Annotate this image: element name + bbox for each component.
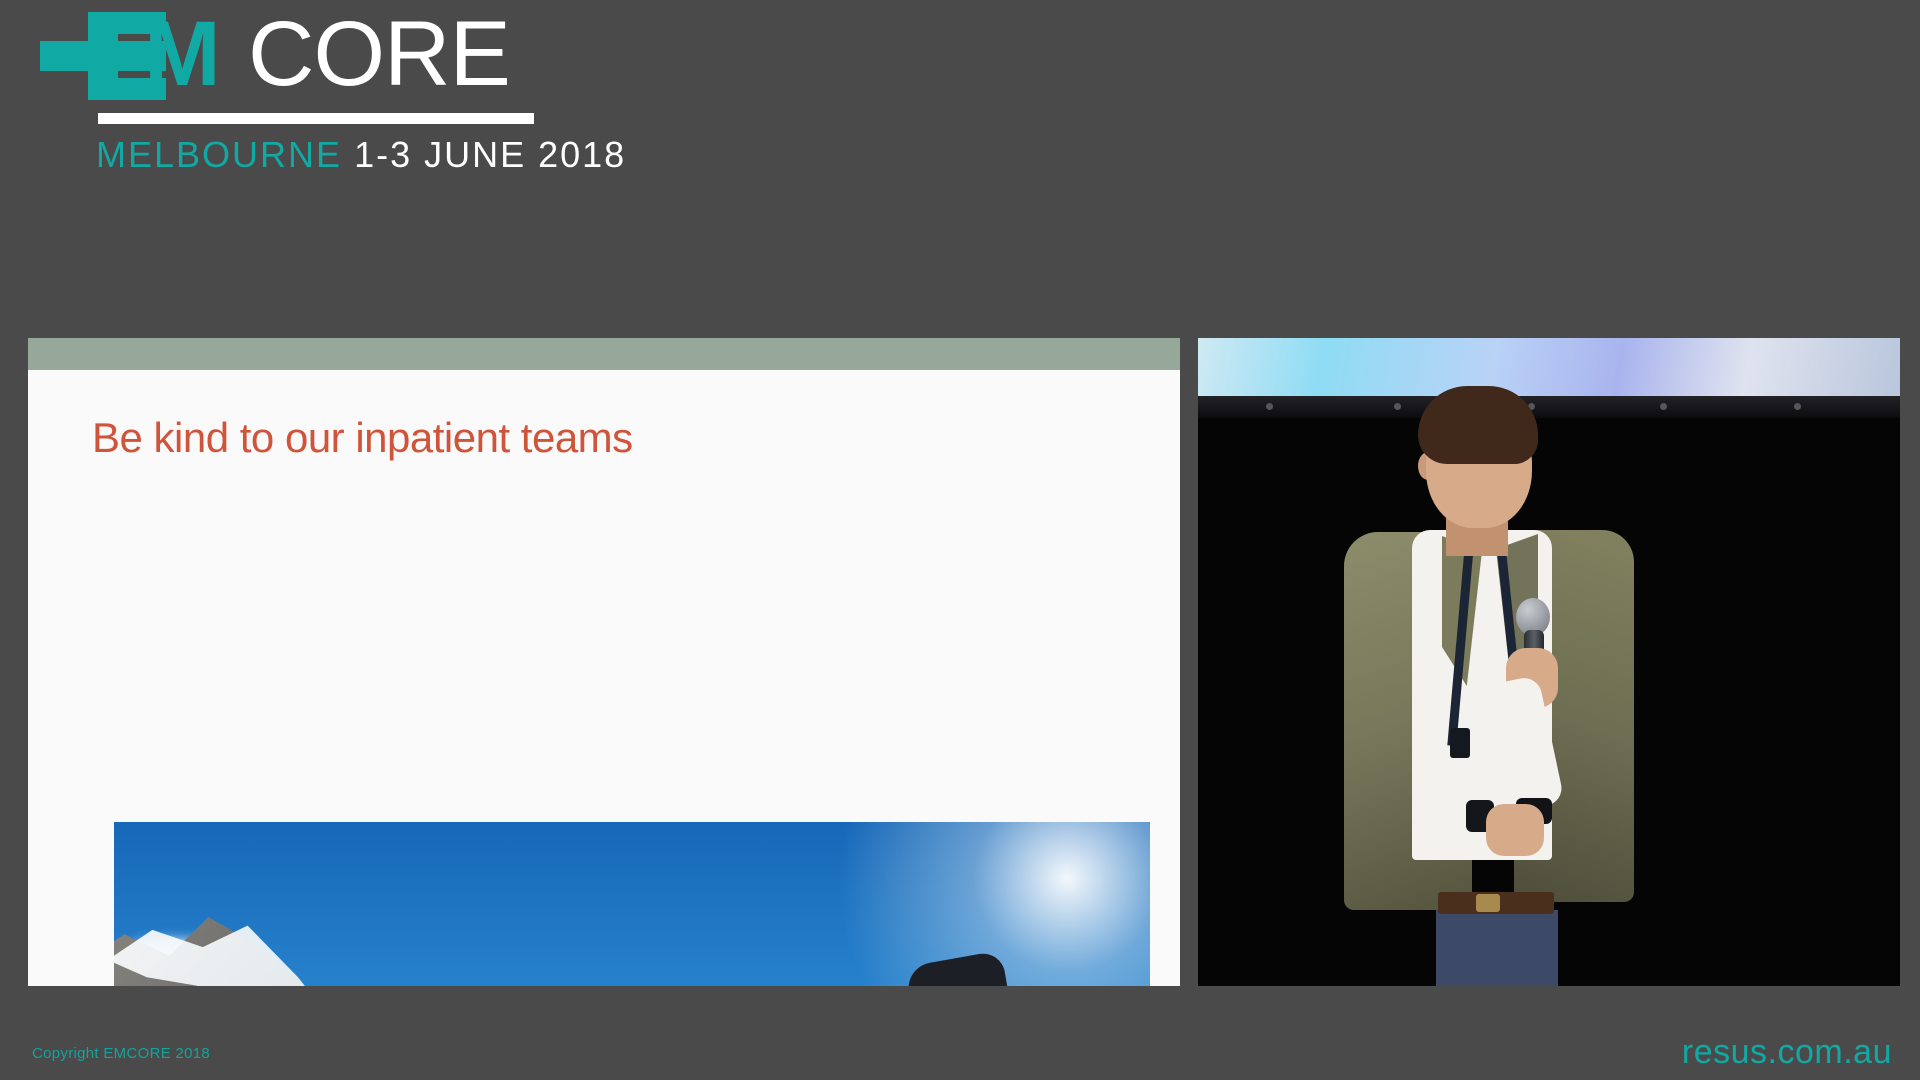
event-city: MELBOURNE	[96, 134, 342, 175]
presentation-player-page: { "brand": { "logo": { "mark_icon": "med…	[0, 0, 1920, 1080]
video-speaker-figure	[1338, 380, 1688, 986]
slide-header-band	[28, 338, 1180, 370]
slide-panel[interactable]: Be kind to our inpatient teams	[28, 338, 1180, 986]
slide-title: Be kind to our inpatient teams	[92, 414, 1180, 462]
event-dates: 1-3 JUNE 2018	[354, 134, 626, 175]
emcore-logo: M CORE	[40, 8, 640, 104]
copyright-notice: Copyright EMCORE 2018	[32, 1045, 210, 1062]
brand-header: M CORE MELBOURNE 1-3 JUNE 2018	[40, 8, 680, 168]
slide-photo-mountaineer	[114, 822, 1150, 986]
site-watermark: resus.com.au	[1682, 1033, 1892, 1072]
logo-divider-rule	[98, 113, 534, 124]
speaker-video-panel[interactable]	[1198, 338, 1900, 986]
logo-core-text: CORE	[248, 6, 510, 102]
logo-em-text: M	[144, 6, 219, 102]
photo-climber	[834, 934, 1034, 986]
event-subline: MELBOURNE 1-3 JUNE 2018	[96, 133, 626, 177]
